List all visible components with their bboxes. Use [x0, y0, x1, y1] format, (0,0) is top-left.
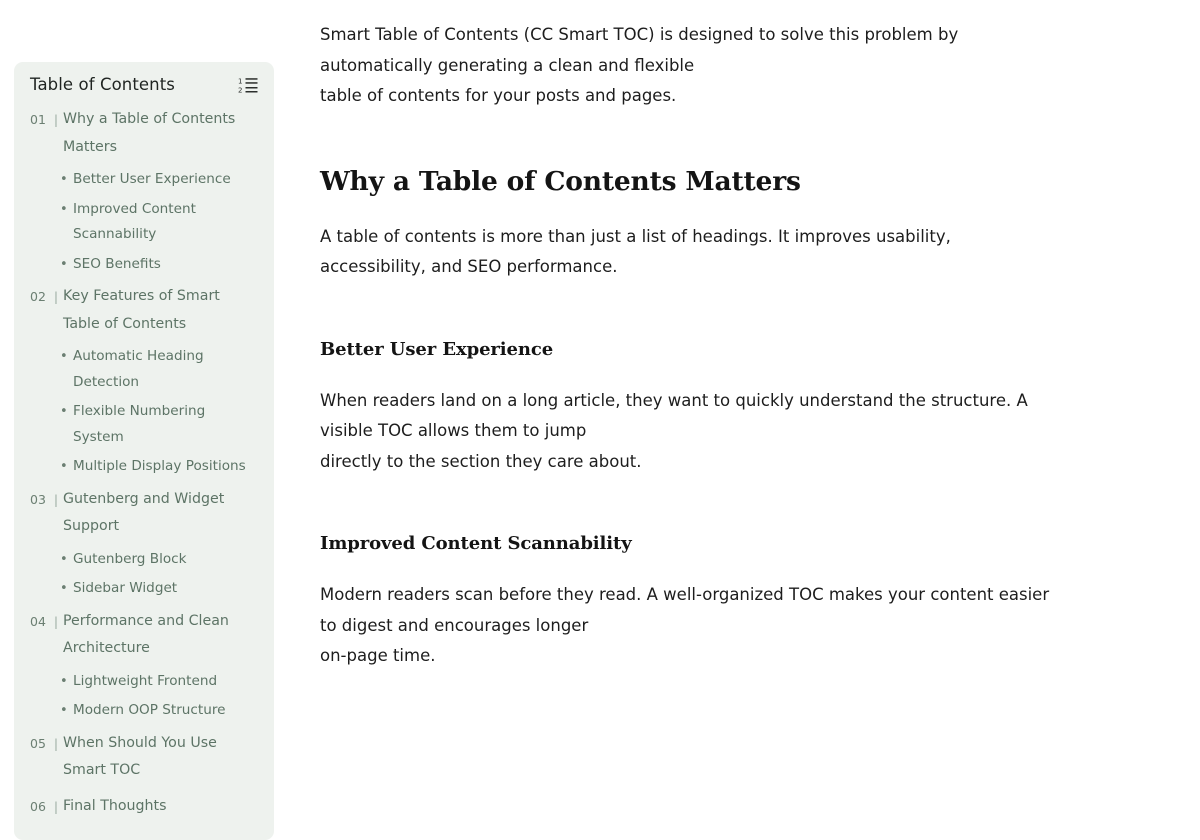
list-item: 06|Final Thoughts [30, 789, 258, 825]
list-item: 01|Why a Table of Contents Matters [30, 102, 258, 165]
toc-item-label: Gutenberg Block [73, 547, 187, 573]
list-item: 05|When Should You Use Smart TOC [30, 726, 258, 789]
toc-link[interactable]: •Improved Content Scannability [30, 195, 258, 250]
toc-item-label: Lightweight Frontend [73, 669, 217, 695]
intro-paragraph: Smart Table of Contents (CC Smart TOC) i… [320, 0, 1060, 112]
toc-bullet-icon: • [60, 399, 73, 425]
toc-link[interactable]: •Multiple Display Positions [30, 452, 258, 482]
toc-item-label: Improved Content Scannability [73, 197, 258, 248]
toc-bullet-icon: • [60, 454, 73, 480]
toc-title: Table of Contents [30, 74, 175, 96]
toc-bullet-icon: • [60, 344, 73, 370]
list-item: 03|Gutenberg and Widget Support [30, 482, 258, 545]
toc-item-label: Flexible Numbering System [73, 399, 258, 450]
list-item: 04|Performance and Clean Architecture [30, 604, 258, 667]
list-item: •Multiple Display Positions [30, 452, 258, 482]
list-item: •Better User Experience [30, 165, 258, 195]
svg-text:2: 2 [238, 86, 242, 94]
toc-item-number: 01 [30, 106, 49, 134]
toc-item-label: Key Features of Smart Table of Contents [63, 283, 258, 338]
sub-heading-improved-content-scannability: Improved Content Scannability [320, 477, 1060, 556]
toc-item-label: SEO Benefits [73, 252, 161, 278]
toc-link[interactable]: 02|Key Features of Smart Table of Conten… [30, 279, 258, 342]
toc-item-separator: | [49, 106, 63, 134]
toc-item-number: 03 [30, 486, 49, 514]
page-root: Table of Contents 1 2 01|Why a Table of … [0, 0, 1200, 700]
toc-item-number: 06 [30, 793, 49, 821]
toc-link[interactable]: 03|Gutenberg and Widget Support [30, 482, 258, 545]
toc-item-label: Why a Table of Contents Matters [63, 106, 258, 161]
section-heading-why-a-table-of-contents-matters: Why a Table of Contents Matters [320, 112, 1060, 199]
toc-link[interactable]: •Flexible Numbering System [30, 397, 258, 452]
table-of-contents-panel: Table of Contents 1 2 01|Why a Table of … [14, 62, 274, 840]
toc-bullet-icon: • [60, 669, 73, 695]
toc-item-label: Better User Experience [73, 167, 231, 193]
toc-list: 01|Why a Table of Contents Matters•Bette… [30, 102, 258, 824]
toc-item-label: Automatic Heading Detection [73, 344, 258, 395]
toc-bullet-icon: • [60, 698, 73, 724]
toc-item-label: Multiple Display Positions [73, 454, 246, 480]
list-item: •Gutenberg Block [30, 545, 258, 575]
toc-bullet-icon: • [60, 197, 73, 223]
svg-text:1: 1 [238, 78, 242, 86]
toc-header: Table of Contents 1 2 [30, 74, 258, 102]
article-content: Smart Table of Contents (CC Smart TOC) i… [320, 0, 1060, 672]
toc-link[interactable]: •Better User Experience [30, 165, 258, 195]
list-item: •SEO Benefits [30, 250, 258, 280]
section-paragraph: A table of contents is more than just a … [320, 199, 1060, 283]
toc-link[interactable]: 04|Performance and Clean Architecture [30, 604, 258, 667]
toc-item-label: Modern OOP Structure [73, 698, 225, 724]
toc-item-separator: | [49, 793, 63, 821]
sub-heading-better-user-experience: Better User Experience [320, 283, 1060, 362]
toc-item-label: Performance and Clean Architecture [63, 608, 258, 663]
toc-item-separator: | [49, 486, 63, 514]
toc-link[interactable]: •Automatic Heading Detection [30, 342, 258, 397]
toc-item-label: When Should You Use Smart TOC [63, 730, 258, 785]
ordered-list-icon[interactable]: 1 2 [238, 76, 258, 94]
list-item: •Flexible Numbering System [30, 397, 258, 452]
sub-paragraph-improved-content-scannability: Modern readers scan before they read. A … [320, 556, 1060, 672]
toc-item-label: Sidebar Widget [73, 576, 177, 602]
toc-link[interactable]: •Sidebar Widget [30, 574, 258, 604]
toc-link[interactable]: •Lightweight Frontend [30, 667, 258, 697]
toc-link[interactable]: 01|Why a Table of Contents Matters [30, 102, 258, 165]
toc-bullet-icon: • [60, 167, 73, 193]
toc-item-number: 04 [30, 608, 49, 636]
toc-bullet-icon: • [60, 252, 73, 278]
list-item: •Improved Content Scannability [30, 195, 258, 250]
toc-bullet-icon: • [60, 547, 73, 573]
toc-item-number: 05 [30, 730, 49, 758]
toc-item-separator: | [49, 608, 63, 636]
toc-link[interactable]: 06|Final Thoughts [30, 789, 258, 825]
toc-link[interactable]: 05|When Should You Use Smart TOC [30, 726, 258, 789]
toc-link[interactable]: •SEO Benefits [30, 250, 258, 280]
list-item: •Automatic Heading Detection [30, 342, 258, 397]
toc-item-label: Final Thoughts [63, 793, 167, 821]
toc-item-number: 02 [30, 283, 49, 311]
toc-bullet-icon: • [60, 576, 73, 602]
toc-item-separator: | [49, 283, 63, 311]
list-item: 02|Key Features of Smart Table of Conten… [30, 279, 258, 342]
list-item: •Modern OOP Structure [30, 696, 258, 726]
toc-item-separator: | [49, 730, 63, 758]
toc-link[interactable]: •Gutenberg Block [30, 545, 258, 575]
sub-paragraph-better-user-experience: When readers land on a long article, the… [320, 362, 1060, 478]
list-item: •Lightweight Frontend [30, 667, 258, 697]
toc-link[interactable]: •Modern OOP Structure [30, 696, 258, 726]
toc-item-label: Gutenberg and Widget Support [63, 486, 258, 541]
list-item: •Sidebar Widget [30, 574, 258, 604]
